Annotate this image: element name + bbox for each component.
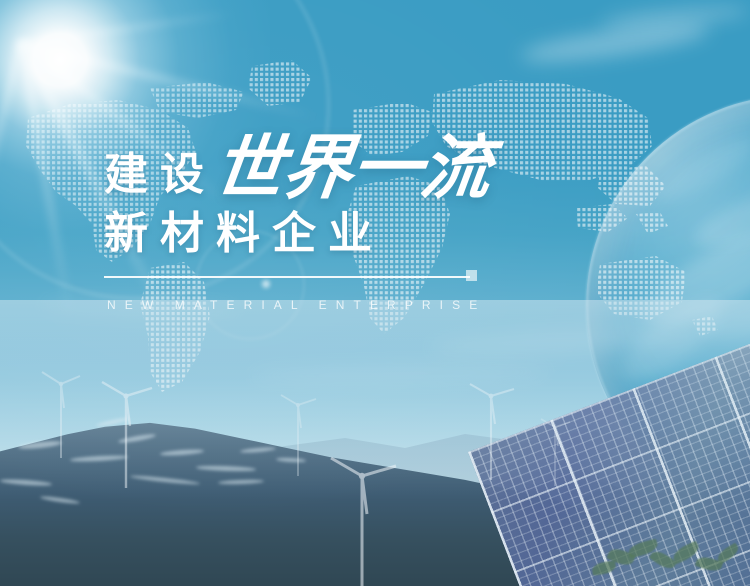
headline-line-2: 新材料企业 [104,212,384,256]
divider-end-square [466,270,477,281]
subtitle-text: NEW MATERIAL ENTERPRISE [107,298,486,312]
headline-block: 建设 世界一流 新材料企业 NEW MATERIAL ENTERPRISE [0,0,750,340]
promo-banner: 建设 世界一流 新材料企业 NEW MATERIAL ENTERPRISE [0,0,750,586]
headline-line-1: 建设 世界一流 [104,133,490,203]
headline-emphasis: 世界一流 [210,133,495,203]
divider-rule [104,276,470,278]
headline-prefix: 建设 [104,153,216,203]
